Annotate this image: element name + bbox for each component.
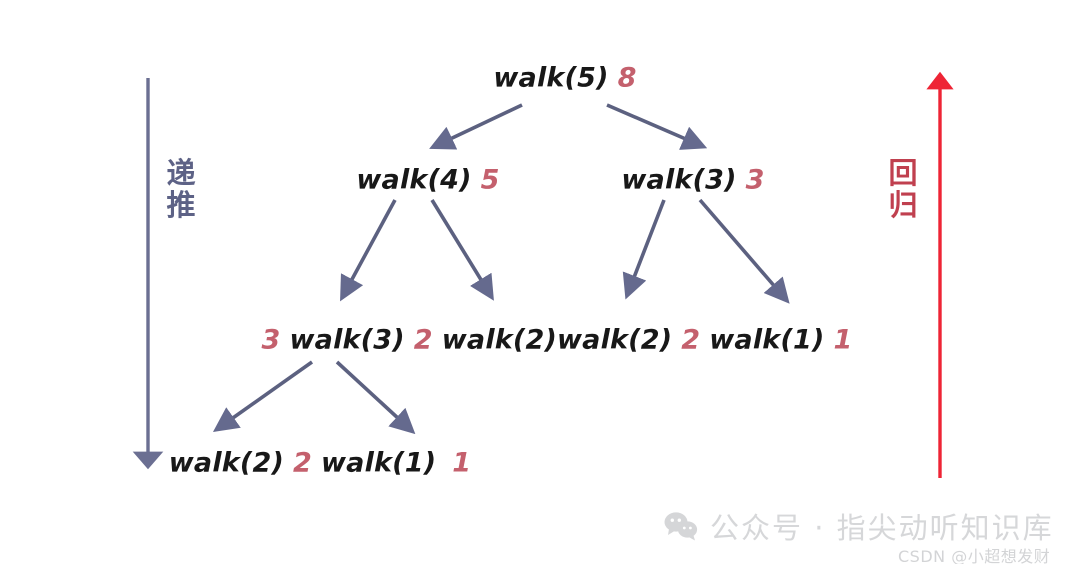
node-walk5-call: walk(5) xyxy=(493,63,608,94)
row-level-2: 3walk(3)2walk(2)walk(2)2walk(1)1 xyxy=(260,327,855,354)
node-walk3-right-value: 3 xyxy=(744,165,767,196)
wechat-icon xyxy=(664,511,698,541)
edge-row3-walk3-to-right xyxy=(337,362,400,420)
node-row3-b-call[interactable]: walk(2) xyxy=(442,325,557,356)
edge-walk4-to-left xyxy=(350,200,395,283)
node-row3-d-value: 2 xyxy=(679,325,702,356)
edge-walk4-to-right xyxy=(432,200,483,283)
edge-root-to-walk3 xyxy=(607,105,688,140)
node-walk5-value: 8 xyxy=(616,63,639,94)
label-forward-recursion: 递推 xyxy=(160,157,202,222)
edge-row3-walk3-to-left xyxy=(230,362,312,420)
row-level-3: walk(2)2walk(1)1 xyxy=(169,450,474,477)
node-row4-a-call[interactable]: walk(2) xyxy=(169,448,284,479)
watermark-sub-text: CSDN @小超想发财 xyxy=(898,543,1050,564)
watermark-main-text: 公众号 · 指尖动听知识库 xyxy=(710,505,1054,547)
node-walk4-value: 5 xyxy=(479,165,502,196)
node-walk3-right-call: walk(3) xyxy=(621,165,736,196)
label-return-recursion: 回归 xyxy=(882,157,924,222)
node-row4-a-value: 2 xyxy=(291,448,314,479)
edge-root-to-walk4 xyxy=(448,105,522,140)
edge-walk3-to-right xyxy=(700,200,776,288)
node-row3-c-call[interactable]: walk(2) xyxy=(557,325,672,356)
node-walk4-call: walk(4) xyxy=(356,165,471,196)
node-row3-e-value: 1 xyxy=(832,325,855,356)
node-walk5[interactable]: walk(5)8 xyxy=(493,65,638,92)
node-row4-b-value: 1 xyxy=(450,448,473,479)
node-row3-a-value: 3 xyxy=(260,325,283,356)
diagram-canvas: walk(5)8 walk(4)5 walk(3)3 3walk(3)2walk… xyxy=(0,0,1080,564)
watermark: 公众号 · 指尖动听知识库 xyxy=(664,505,1054,547)
node-walk4[interactable]: walk(4)5 xyxy=(356,167,501,194)
node-walk3-right[interactable]: walk(3)3 xyxy=(621,167,766,194)
edge-walk3-to-left xyxy=(633,200,664,280)
node-row3-a-call[interactable]: walk(3) xyxy=(290,325,405,356)
node-row4-b-call[interactable]: walk(1) xyxy=(321,448,436,479)
wechat-icon-glyph xyxy=(664,511,698,541)
node-row3-d-call[interactable]: walk(1) xyxy=(709,325,824,356)
node-row3-b-value: 2 xyxy=(412,325,435,356)
